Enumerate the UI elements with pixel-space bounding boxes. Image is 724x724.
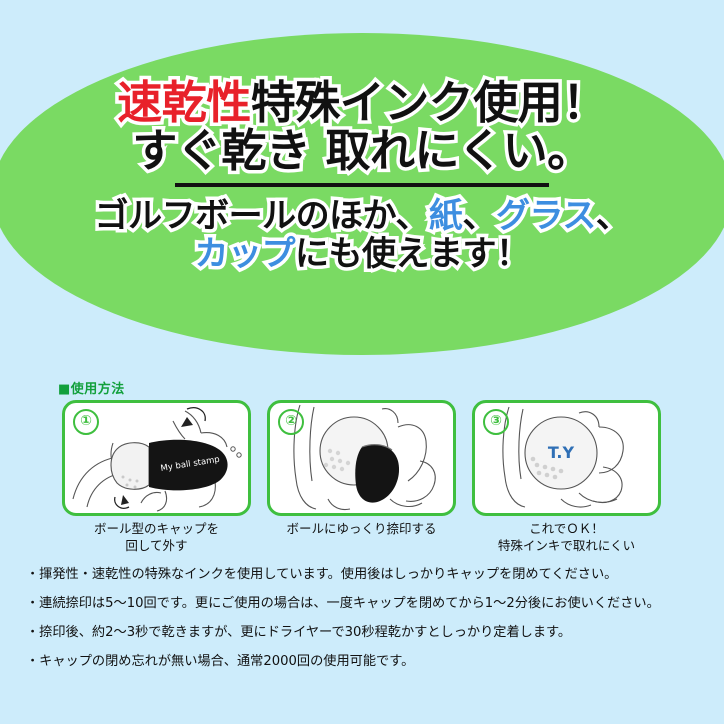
- product-notes-list: ・揮発性・速乾性の特殊なインクを使用しています。使用後はしっかりキャップを閉めて…: [26, 566, 702, 683]
- hero-banner: 速乾性特殊インク使用！ すぐ乾き 取れにくい。 ゴルフボールのほか、紙、グラス、…: [0, 0, 724, 365]
- usage-step-3-image: ③ T.Y: [472, 400, 661, 516]
- headline-keyword-glass: グラス: [496, 196, 596, 236]
- headline-line-4: カップにも使えます！: [195, 237, 530, 272]
- headline-line-4-rest: にも使えます！: [295, 234, 530, 274]
- usage-step-2: ②: [267, 400, 456, 555]
- headline-line-3-prefix: ゴルフボールのほか、: [95, 196, 429, 236]
- usage-step-3-caption-line-2: 特殊インキで取れにくい: [472, 538, 661, 555]
- usage-step-2-image: ②: [267, 400, 456, 516]
- headline-line-3-comma-1: 、: [463, 196, 497, 236]
- usage-step-1-image: ① My ball stamp: [62, 400, 251, 516]
- headline-line-2: すぐ乾き 取れにくい。: [132, 128, 591, 174]
- headline-line-3: ゴルフボールのほか、紙、グラス、: [95, 199, 630, 234]
- step-number-2: ②: [278, 409, 304, 435]
- usage-step-3-caption: これでＯＫ！ 特殊インキで取れにくい: [472, 521, 661, 555]
- product-note-4: ・キャップの閉め忘れが無い場合、通常2000回の使用可能です。: [26, 653, 702, 670]
- hero-text-block: 速乾性特殊インク使用！ すぐ乾き 取れにくい。 ゴルフボールのほか、紙、グラス、…: [0, 0, 724, 365]
- step-number-1: ①: [73, 409, 99, 435]
- usage-step-3-caption-line-1: これでＯＫ！: [472, 521, 661, 538]
- usage-step-2-caption: ボールにゆっくり捺印する: [267, 521, 456, 538]
- headline-line-2-text: すぐ乾き 取れにくい。: [132, 124, 591, 177]
- usage-step-1-caption: ボール型のキャップを 回して外す: [62, 521, 251, 555]
- usage-step-1-caption-line-2: 回して外す: [62, 538, 251, 555]
- headline-keyword-paper: 紙: [429, 196, 463, 236]
- usage-steps-row: ① My ball stamp: [62, 400, 662, 555]
- product-note-1: ・揮発性・速乾性の特殊なインクを使用しています。使用後はしっかりキャップを閉めて…: [26, 566, 702, 583]
- headline-keyword-fast-dry: 速乾性: [117, 76, 251, 129]
- usage-step-1: ① My ball stamp: [62, 400, 251, 555]
- usage-step-1-caption-line-1: ボール型のキャップを: [62, 521, 251, 538]
- usage-section-heading: ■使用方法: [58, 378, 125, 397]
- headline-divider-rule: [175, 183, 549, 187]
- usage-step-3: ③ T.Y: [472, 400, 661, 555]
- step-number-3: ③: [483, 409, 509, 435]
- headline-line-1-rest: 特殊インク使用！: [251, 76, 607, 129]
- headline-keyword-cup: カップ: [195, 234, 296, 274]
- ball-initials-text: T.Y: [548, 443, 575, 462]
- product-note-3: ・捺印後、約2〜3秒で乾きますが、更にドライヤーで30秒程乾かすとしっかり定着し…: [26, 624, 702, 641]
- headline-line-1: 速乾性特殊インク使用！: [117, 80, 607, 126]
- headline-line-3-comma-2: 、: [596, 196, 630, 236]
- product-note-2: ・連続捺印は5〜10回です。更にご使用の場合は、一度キャップを閉めてから1〜2分…: [26, 595, 702, 612]
- usage-step-2-caption-line-1: ボールにゆっくり捺印する: [267, 521, 456, 538]
